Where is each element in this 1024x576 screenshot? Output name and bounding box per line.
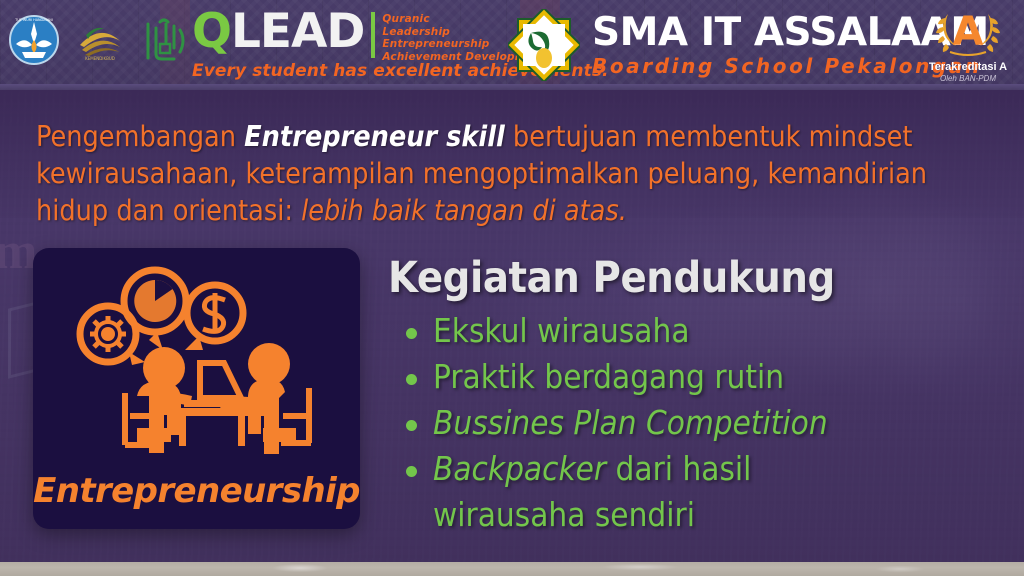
page-title: Kegiatan Pendukung: [388, 252, 1008, 304]
entrepreneurship-card: Entrepreneurship: [33, 248, 360, 529]
two-people-at-table-with-laptop-illustration: [33, 256, 360, 466]
activities-list: Ekskul wirausaha Praktik berdagang rutin…: [388, 308, 1008, 538]
bullet-dot: [406, 374, 417, 385]
list-item-italic: Bussines Plan Competition: [433, 403, 828, 442]
list-item-text: wirausaha sendiri: [433, 495, 695, 534]
dollar-sign-icon: [203, 293, 225, 333]
tut-wuri-handayani-logo: TUT WURI HANDAYANI: [8, 14, 60, 66]
list-item-text: Ekskul wirausaha: [433, 311, 690, 350]
intro-part1: Pengembangan: [36, 120, 244, 153]
pie-chart-icon: [134, 280, 176, 322]
svg-text:KEMENDIKBUD: KEMENDIKBUD: [85, 56, 115, 61]
slide: m TUT WURI HANDAYANI: [0, 0, 1024, 576]
accreditation-badge: A Terakreditasi A Oleh BAN-PDM: [920, 8, 1016, 83]
qlead-divider: [371, 12, 375, 58]
laptop-icon: [184, 363, 249, 407]
card-label: Entrepreneurship: [33, 471, 360, 511]
accreditation-label: Terakreditasi A: [920, 61, 1016, 73]
svg-text:TUT WURI HANDAYANI: TUT WURI HANDAYANI: [14, 18, 53, 22]
list-item-text: Praktik berdagang rutin: [433, 357, 784, 396]
table: [173, 408, 250, 446]
list-item-trailing: dari hasil: [606, 449, 751, 488]
intro-paragraph: Pengembangan Entrepreneur skill bertujua…: [36, 118, 941, 229]
accreditation-grade: A: [920, 10, 1016, 54]
list-item: Bussines Plan Competition: [388, 400, 1008, 446]
header-bar: TUT WURI HANDAYANI KEMENDIKBUD: [0, 0, 1024, 90]
bullet-dot: [406, 328, 417, 339]
list-item: Ekskul wirausaha: [388, 308, 1008, 354]
intro-bold-phrase: Entrepreneur skill: [244, 120, 505, 153]
background-floor-strip: [0, 562, 1024, 576]
list-item: Praktik berdagang rutin: [388, 354, 1008, 400]
accreditation-issuer: Oleh BAN-PDM: [920, 74, 1016, 83]
qlead-lead-text: LEAD: [231, 4, 364, 59]
list-item-continuation: wirausaha sendiri: [388, 492, 1008, 538]
qlead-q-letter: Q: [192, 4, 231, 59]
list-item: Backpacker dari hasil: [388, 446, 1008, 492]
kemendikbud-logo: KEMENDIKBUD: [74, 17, 126, 63]
header-bottom-line: [0, 84, 1024, 90]
assalaam-arabic-calligraphy-logo: [140, 14, 188, 66]
bullet-dot: [406, 466, 417, 477]
bullet-dot: [406, 420, 417, 431]
school-identity-block: SMA IT ASSALAAM Boarding School Pekalong…: [508, 9, 989, 81]
list-item-italic: Backpacker: [433, 449, 606, 488]
header-left-logos: TUT WURI HANDAYANI KEMENDIKBUD: [8, 14, 188, 66]
gear-icon: [90, 316, 126, 352]
assalaam-star-emblem: [508, 9, 580, 81]
intro-italic-phrase: lebih baik tangan di atas.: [301, 194, 627, 227]
supporting-activities-section: Kegiatan Pendukung Ekskul wirausaha Prak…: [388, 252, 1008, 538]
